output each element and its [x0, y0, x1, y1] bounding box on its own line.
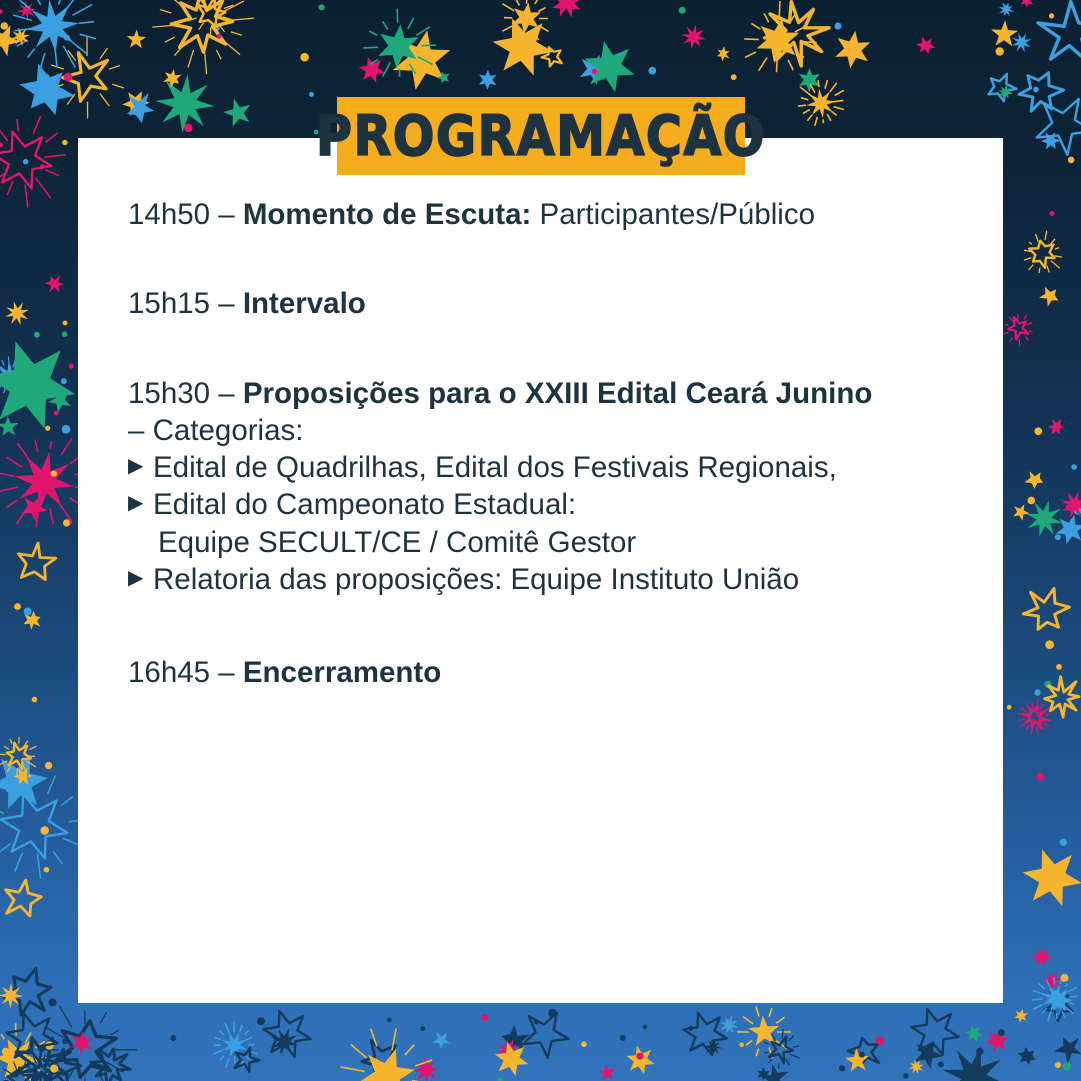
star-outline	[18, 543, 55, 580]
star-dot	[61, 378, 67, 384]
star-dot	[1071, 464, 1077, 470]
star-dot	[319, 4, 325, 10]
star-filled	[681, 25, 705, 49]
star-outline	[912, 1009, 959, 1055]
star-filled	[1018, 1047, 1036, 1065]
spacer	[128, 598, 978, 654]
star-filled	[0, 341, 75, 428]
star-dot	[976, 1048, 983, 1055]
star-filled	[223, 99, 250, 127]
star-outline	[1037, 99, 1081, 155]
star-dot	[938, 1062, 944, 1068]
star-dot	[497, 1077, 503, 1081]
star-filled	[359, 57, 385, 83]
schedule-entry: 15h15 – Intervalo	[128, 285, 978, 322]
star-dot	[45, 426, 50, 431]
star-outline	[683, 1013, 726, 1055]
star-dot	[32, 697, 38, 703]
star-burst	[0, 116, 66, 208]
star-filled	[20, 63, 75, 115]
star-filled	[598, 1064, 615, 1081]
star-dot	[1056, 664, 1062, 670]
star-filled	[626, 1046, 654, 1074]
star-filled	[5, 301, 29, 325]
star-filled	[1054, 1037, 1081, 1064]
star-filled	[1047, 419, 1064, 435]
spacer	[128, 323, 978, 375]
star-dot	[44, 867, 50, 873]
star-filled	[991, 20, 1018, 46]
star-dot	[1063, 1062, 1072, 1071]
star-dot	[1033, 87, 1039, 93]
star-dot	[170, 1035, 176, 1041]
star-filled	[551, 0, 583, 18]
star-dot	[1036, 773, 1044, 781]
star-outline	[1008, 317, 1028, 339]
star-filled	[1012, 33, 1032, 53]
star-filled	[1013, 504, 1029, 521]
star-filled	[163, 69, 182, 88]
star-dot	[63, 321, 68, 326]
page-title: PROGRAMAÇÃO	[316, 109, 766, 164]
star-dot	[257, 1017, 265, 1025]
title-banner: PROGRAMAÇÃO	[337, 97, 745, 175]
schedule-entry: 15h30 – Proposições para o XXIII Edital …	[128, 375, 978, 412]
star-dot	[49, 998, 57, 1006]
star-dot	[679, 7, 686, 14]
star-dot	[69, 364, 74, 369]
star-outline	[1038, 2, 1081, 62]
schedule-entry: 16h45 – Encerramento	[128, 654, 978, 691]
star-dot	[1045, 640, 1054, 649]
triangle-bullet-icon: ▶	[128, 489, 153, 518]
star-filled	[26, 0, 79, 53]
star-dot	[50, 1065, 58, 1073]
star-filled	[1023, 850, 1081, 907]
star-dot	[62, 425, 71, 434]
star-dot	[14, 603, 21, 610]
star-filled	[45, 275, 64, 293]
star-dot	[1061, 974, 1069, 982]
star-filled	[127, 29, 146, 48]
star-outline	[523, 1013, 568, 1058]
star-dot	[1050, 211, 1055, 216]
star-dot	[1034, 689, 1040, 695]
entry-detail: Participantes/Público	[531, 198, 815, 231]
star-filled	[1024, 471, 1043, 489]
triangle-bullet-icon: ▶	[128, 452, 153, 481]
star-outline	[6, 880, 42, 916]
star-filled	[155, 74, 214, 133]
star-dot	[0, 9, 3, 14]
star-dot	[1055, 534, 1061, 540]
entry-title: Encerramento	[243, 656, 441, 689]
star-dot	[420, 1026, 425, 1031]
star-filled	[835, 31, 870, 69]
star-dot	[1068, 157, 1075, 164]
star-filled	[1032, 948, 1053, 967]
star-dot	[1028, 497, 1036, 505]
star-dot	[0, 142, 3, 147]
star-dot	[63, 519, 70, 526]
star-dot	[731, 74, 737, 80]
star-filled	[916, 36, 935, 54]
list-item-label: Relatoria das proposições: Equipe Instit…	[153, 564, 799, 595]
star-filled	[0, 416, 18, 436]
star-dot	[62, 332, 67, 337]
star-filled	[1026, 500, 1063, 537]
list-item-label: Edital do Campeonato Estadual:	[153, 489, 576, 520]
entry-title: Proposições para o XXIII Edital Ceará Ju…	[243, 377, 873, 410]
entry-time: 16h45 –	[128, 656, 243, 689]
entry-title: Intervalo	[243, 287, 366, 320]
star-filled	[717, 46, 729, 61]
star-dot	[387, 1018, 392, 1023]
star-dot	[1060, 839, 1067, 846]
star-dot	[648, 67, 656, 75]
program-poster: PROGRAMAÇÃO 14h50 – Momento de Escuta: P…	[0, 0, 1081, 1081]
schedule-continuation: – Categorias:	[128, 412, 978, 449]
star-dot	[1034, 427, 1042, 435]
star-dot	[184, 124, 193, 133]
star-filled	[748, 1016, 779, 1046]
star-filled	[999, 3, 1014, 17]
star-dot	[34, 332, 40, 338]
star-dot	[62, 1038, 68, 1044]
star-burst	[1017, 699, 1051, 736]
star-filled	[985, 1029, 1009, 1053]
star-dot	[51, 470, 57, 476]
star-dot	[643, 1025, 647, 1029]
triangle-bullet-icon: ▶	[128, 564, 153, 593]
list-item: ▶Relatoria das proposições: Equipe Insti…	[128, 561, 978, 598]
entry-time: 15h30 –	[128, 377, 243, 410]
star-dot	[739, 1042, 744, 1047]
star-dot	[859, 1052, 865, 1058]
star-dot	[839, 1065, 845, 1071]
star-dot	[1055, 1062, 1061, 1068]
star-dot	[581, 1041, 587, 1047]
star-dot	[300, 53, 309, 62]
star-outline	[1019, 73, 1064, 112]
entry-time: 14h50 –	[128, 198, 243, 231]
star-filled	[412, 1057, 439, 1081]
list-item-label: Edital de Quadrilhas, Edital dos Festiva…	[153, 452, 837, 483]
star-dot	[620, 1035, 626, 1041]
star-dot	[636, 1053, 643, 1060]
star-filled	[1039, 287, 1058, 307]
schedule-entry: 14h50 – Momento de Escuta: Participantes…	[128, 196, 978, 233]
star-dot	[998, 1029, 1005, 1036]
star-filled	[14, 451, 74, 511]
star-dot	[592, 69, 597, 74]
star-dot	[903, 1073, 908, 1078]
list-item-subline: Equipe SECULT/CE / Comitê Gestor	[128, 524, 978, 561]
star-dot	[1, 22, 9, 30]
entry-time: 15h15 –	[128, 287, 243, 320]
list-item: ▶Edital do Campeonato Estadual:	[128, 486, 978, 523]
star-outline	[1023, 706, 1047, 728]
star-outline	[1023, 588, 1069, 629]
star-dot	[1049, 13, 1054, 18]
star-dot	[45, 762, 52, 769]
star-dot	[481, 1014, 488, 1021]
list-item: ▶Edital de Quadrilhas, Edital dos Festiv…	[128, 449, 978, 486]
schedule-list: 14h50 – Momento de Escuta: Participantes…	[128, 196, 978, 691]
star-dot	[62, 140, 67, 145]
star-dot	[1007, 705, 1012, 710]
star-filled	[720, 1016, 739, 1035]
star-dot	[309, 92, 314, 97]
star-filled	[479, 70, 497, 90]
star-filled	[1021, 0, 1034, 7]
star-filled	[965, 1025, 983, 1042]
star-dot	[217, 34, 222, 39]
star-filled	[806, 89, 836, 119]
star-dot	[2, 1048, 10, 1056]
star-dot	[876, 1036, 884, 1044]
star-filled	[432, 1032, 450, 1049]
entry-title: Momento de Escuta:	[243, 198, 531, 231]
star-dot	[23, 159, 28, 164]
star-filled	[1014, 1009, 1028, 1023]
star-dot	[996, 47, 1004, 55]
star-dot	[24, 608, 32, 616]
star-dot	[40, 826, 49, 835]
spacer	[128, 233, 978, 285]
star-filled	[943, 1046, 1005, 1081]
star-dot	[64, 73, 73, 82]
star-dot	[835, 23, 842, 30]
